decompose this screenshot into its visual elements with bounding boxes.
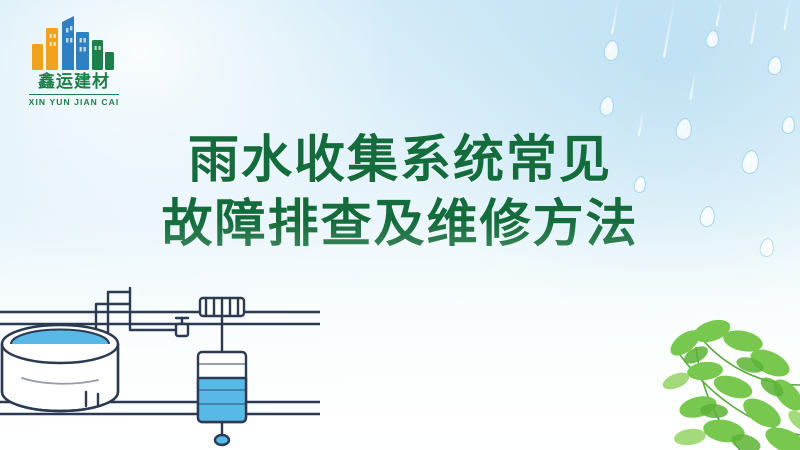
sky-glow-right <box>360 0 800 320</box>
brand-name: 鑫运建材 <box>18 72 130 92</box>
rain-drop-icon <box>740 149 761 176</box>
title-line-1: 雨水收集系统常见 <box>0 128 800 192</box>
rain-drop-icon <box>781 115 797 135</box>
leaf-foliage-decoration <box>500 235 800 450</box>
bottom-fade <box>0 220 800 450</box>
rain-streak <box>663 0 675 57</box>
rain-streak <box>689 70 696 100</box>
rainwater-storage-tank <box>2 325 118 411</box>
rain-drop-icon <box>674 117 694 141</box>
filter-column <box>198 298 246 445</box>
rainwater-system-illustration <box>0 260 320 450</box>
rain-drop-icon <box>698 205 716 228</box>
rain-streak <box>638 110 644 136</box>
rain-streak <box>611 0 619 34</box>
brand-pinyin: XIN YUN JIAN CAI <box>29 94 120 107</box>
rain-streak <box>783 0 790 30</box>
rain-drop-icon <box>758 237 775 258</box>
building-blocks-logo-icon <box>26 14 122 70</box>
rain-drop-icon <box>705 29 721 49</box>
rain-streak <box>750 0 760 44</box>
rain-drop-icon <box>598 95 615 117</box>
poster-canvas: 鑫运建材 XIN YUN JIAN CAI 雨水收集系统常见 故障排查及维修方法 <box>0 0 800 450</box>
brand-logo: 鑫运建材 XIN YUN JIAN CAI <box>18 14 130 110</box>
title-line-2: 故障排查及维修方法 <box>0 192 800 256</box>
rain-streak <box>716 0 722 26</box>
rain-drop-icon <box>602 39 620 62</box>
rain-drop-icon <box>633 175 648 194</box>
rain-drop-icon <box>766 55 783 76</box>
pipe-network <box>0 312 320 414</box>
poster-title: 雨水收集系统常见 故障排查及维修方法 <box>0 128 800 256</box>
leaf-branch-group <box>660 316 800 450</box>
